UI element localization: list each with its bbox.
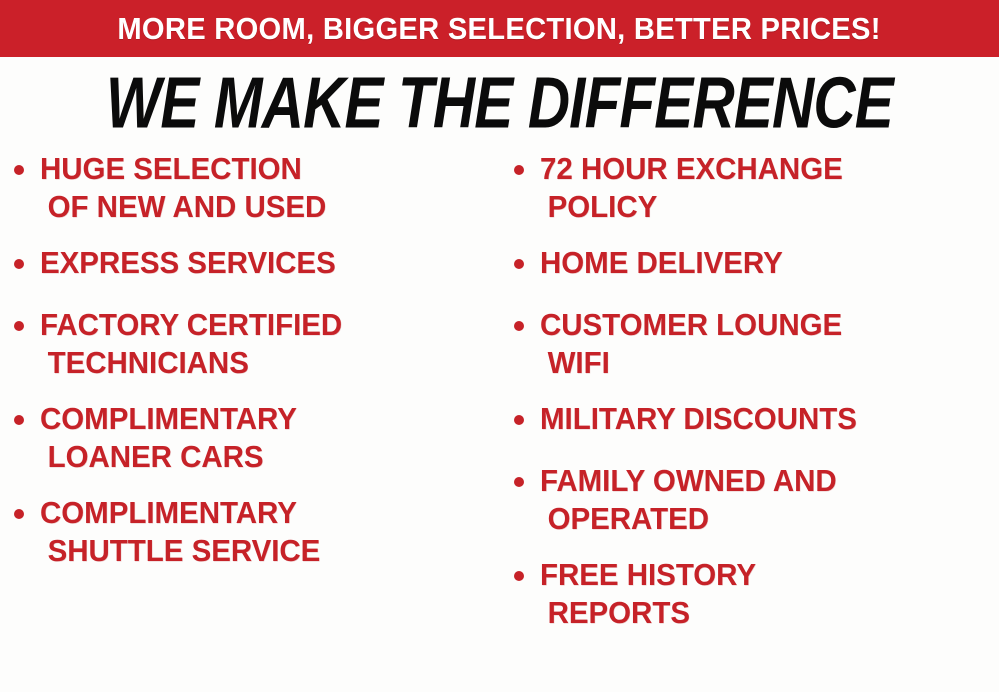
feature-item: FAMILY OWNED ANDOPERATED xyxy=(514,462,999,538)
bullet-dot-icon xyxy=(14,165,24,175)
feature-item-label: CUSTOMER LOUNGEWIFI xyxy=(540,306,976,382)
page-title: WE MAKE THE DIFFERENCE xyxy=(106,67,893,139)
feature-columns: HUGE SELECTIONOF NEW AND USEDEXPRESS SER… xyxy=(0,150,999,692)
feature-item-line2: TECHNICIANS xyxy=(40,344,471,382)
feature-item: MILITARY DISCOUNTS xyxy=(514,400,999,438)
bullet-dot-icon xyxy=(14,415,24,425)
feature-item-line1: MILITARY DISCOUNTS xyxy=(540,401,857,436)
feature-item-line1: 72 HOUR EXCHANGE xyxy=(540,151,843,186)
feature-item-label: MILITARY DISCOUNTS xyxy=(540,400,976,438)
feature-item-line2: OPERATED xyxy=(540,500,976,538)
feature-item: EXPRESS SERVICES xyxy=(14,244,494,282)
bullet-dot-icon xyxy=(514,321,524,331)
feature-item-line1: HOME DELIVERY xyxy=(540,245,783,280)
feature-item: FACTORY CERTIFIEDTECHNICIANS xyxy=(14,306,494,382)
feature-item-line1: FACTORY CERTIFIED xyxy=(40,307,342,342)
bullet-dot-icon xyxy=(514,259,524,269)
feature-item-label: FAMILY OWNED ANDOPERATED xyxy=(540,462,976,538)
bullet-dot-icon xyxy=(14,509,24,519)
headline-container: WE MAKE THE DIFFERENCE xyxy=(0,62,999,144)
feature-item-label: HOME DELIVERY xyxy=(540,244,976,282)
feature-item-label: HUGE SELECTIONOF NEW AND USED xyxy=(40,150,471,226)
promo-banner-text: MORE ROOM, BIGGER SELECTION, BETTER PRIC… xyxy=(118,13,881,44)
feature-item: HOME DELIVERY xyxy=(514,244,999,282)
feature-item-label: COMPLIMENTARYLOANER CARS xyxy=(40,400,471,476)
feature-column-right: 72 HOUR EXCHANGEPOLICYHOME DELIVERYCUSTO… xyxy=(514,150,999,650)
bullet-dot-icon xyxy=(514,477,524,487)
bullet-dot-icon xyxy=(14,259,24,269)
feature-item-line2: LOANER CARS xyxy=(40,438,471,476)
feature-item-line1: COMPLIMENTARY xyxy=(40,495,297,530)
feature-item: 72 HOUR EXCHANGEPOLICY xyxy=(514,150,999,226)
feature-item-line2: OF NEW AND USED xyxy=(40,188,471,226)
feature-item: COMPLIMENTARYLOANER CARS xyxy=(14,400,494,476)
feature-item-line1: COMPLIMENTARY xyxy=(40,401,297,436)
feature-item-label: FACTORY CERTIFIEDTECHNICIANS xyxy=(40,306,471,382)
advertisement-root: MORE ROOM, BIGGER SELECTION, BETTER PRIC… xyxy=(0,0,999,692)
feature-item-line1: CUSTOMER LOUNGE xyxy=(540,307,842,342)
bullet-dot-icon xyxy=(514,415,524,425)
feature-item-line1: FREE HISTORY xyxy=(540,557,756,592)
feature-item: FREE HISTORYREPORTS xyxy=(514,556,999,632)
feature-item-line1: EXPRESS SERVICES xyxy=(40,245,336,280)
feature-item-line2: SHUTTLE SERVICE xyxy=(40,532,471,570)
bullet-dot-icon xyxy=(514,571,524,581)
feature-item: CUSTOMER LOUNGEWIFI xyxy=(514,306,999,382)
feature-item-line1: FAMILY OWNED AND xyxy=(540,463,837,498)
feature-item-label: FREE HISTORYREPORTS xyxy=(540,556,976,632)
feature-item-line2: REPORTS xyxy=(540,594,976,632)
feature-item-line2: WIFI xyxy=(540,344,976,382)
bullet-dot-icon xyxy=(14,321,24,331)
feature-item-label: 72 HOUR EXCHANGEPOLICY xyxy=(540,150,976,226)
feature-item-label: COMPLIMENTARYSHUTTLE SERVICE xyxy=(40,494,471,570)
feature-column-left: HUGE SELECTIONOF NEW AND USEDEXPRESS SER… xyxy=(14,150,494,588)
feature-item: COMPLIMENTARYSHUTTLE SERVICE xyxy=(14,494,494,570)
bullet-dot-icon xyxy=(514,165,524,175)
feature-item-line2: POLICY xyxy=(540,188,976,226)
feature-item-label: EXPRESS SERVICES xyxy=(40,244,471,282)
feature-item-line1: HUGE SELECTION xyxy=(40,151,302,186)
promo-banner: MORE ROOM, BIGGER SELECTION, BETTER PRIC… xyxy=(0,0,999,57)
feature-item: HUGE SELECTIONOF NEW AND USED xyxy=(14,150,494,226)
